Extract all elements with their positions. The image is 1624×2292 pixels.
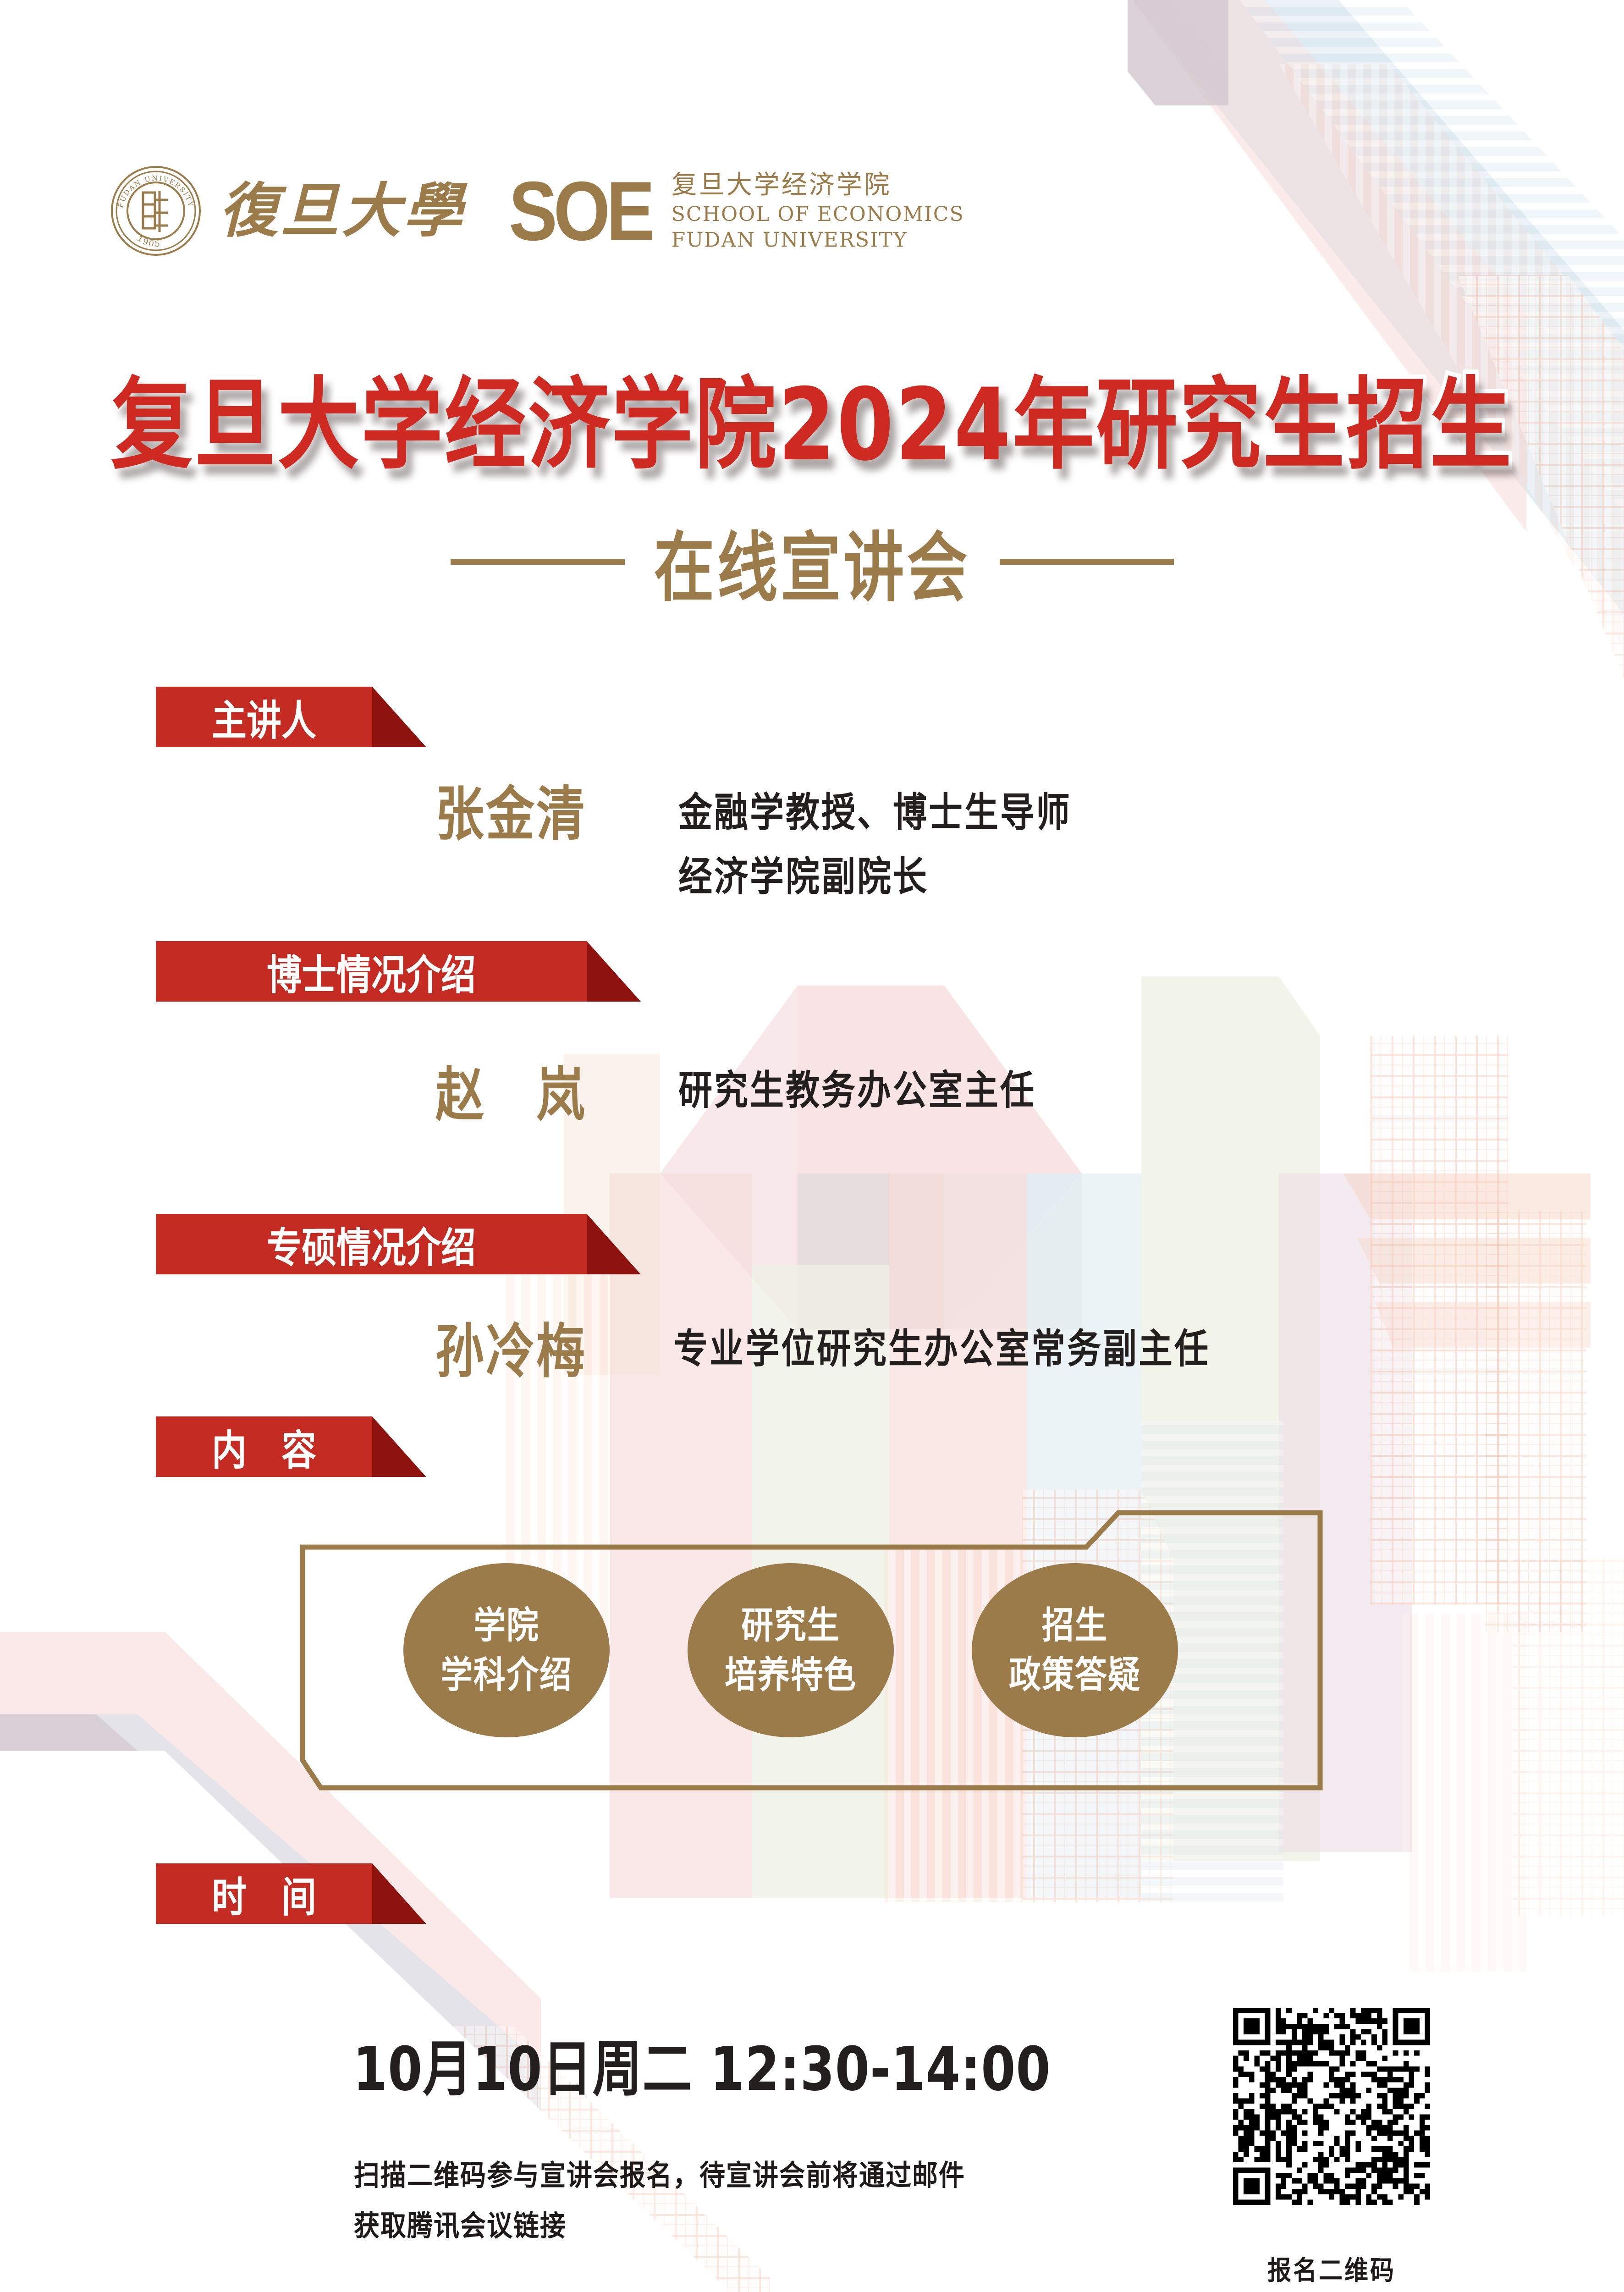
poster-subtitle-row: 在线宣讲会 [0,518,1624,606]
speaker-1-name: 张金清 [435,767,587,852]
content-item-3-line2: 政策答疑 [1009,1647,1141,1704]
registration-note-line2: 获取腾讯会议链接 [354,2203,567,2244]
event-datetime: 10月10日周二 12:30-14:00 [353,2021,1051,2108]
section-tag-master-label: 专硕情况介绍 [267,1214,476,1274]
registration-note-line1: 扫描二维码参与宣讲会报名，待宣讲会前将通过邮件 [354,2152,965,2194]
content-item-2: 研究生 培养特色 [688,1563,894,1737]
section-tag-phd-label: 博士情况介绍 [267,942,476,1001]
tag-fold-icon [372,1416,426,1477]
content-item-1-line2: 学科介绍 [440,1647,573,1704]
qr-code-caption: 报名二维码 [1219,2249,1444,2287]
section-tag-time-label: 时 间 [212,1864,316,1923]
poster-title: 复旦大学经济学院2024年研究生招生 [0,345,1624,489]
speaker-2-role-line1: 研究生教务办公室主任 [678,1058,1036,1116]
soe-logo-mark: SOE [509,169,651,253]
registration-qr-code[interactable] [1233,2008,1430,2205]
qr-code-canvas[interactable] [1233,2008,1430,2205]
fudan-seal-icon: FUDAN UNIVERSITY 1905 [110,165,202,257]
content-item-2-line2: 培养特色 [725,1647,857,1704]
speaker-3-role-line1: 专业学位研究生办公室常务副主任 [674,1317,1210,1374]
content-item-3-line1: 招生 [1042,1597,1108,1654]
section-tag-content: 内 容 [156,1416,426,1477]
subtitle-rule-left [451,559,625,565]
university-name-cn: 復旦大學 [219,182,465,240]
speaker-3-name: 孙冷梅 [435,1304,587,1389]
content-item-2-line1: 研究生 [741,1597,840,1654]
tag-fold-icon [372,687,426,747]
content-item-1-line1: 学院 [473,1597,539,1654]
section-tag-content-label: 内 容 [212,1417,316,1477]
tag-fold-icon [587,1214,641,1274]
tag-fold-icon [372,1863,426,1924]
speaker-2-name: 赵 岚 [435,1047,587,1132]
background-decoration [0,0,1624,2292]
content-item-3: 招生 政策答疑 [972,1563,1178,1737]
soe-name-cn: 复旦大学经济学院 [672,169,964,202]
tag-fold-icon [587,941,641,1002]
content-item-1: 学院 学科介绍 [403,1563,610,1737]
soe-name-en-line2: FUDAN UNIVERSITY [672,227,964,253]
poster-subtitle: 在线宣讲会 [654,507,970,617]
section-tag-phd: 博士情况介绍 [156,941,642,1002]
speaker-1-role-line1: 金融学教授、博士生导师 [678,780,1072,838]
section-tag-master: 专硕情况介绍 [156,1214,642,1274]
brand-header: FUDAN UNIVERSITY 1905 復旦大學 SOE 复旦大学经济学院 … [110,165,964,257]
subtitle-rule-right [1000,559,1174,565]
section-tag-time: 时 间 [156,1863,426,1924]
speaker-1-role-line2: 经济学院副院长 [678,844,929,902]
soe-name-en-line1: SCHOOL OF ECONOMICS [672,202,964,227]
section-tag-speaker-label: 主讲人 [212,687,316,747]
section-tag-speaker: 主讲人 [156,687,426,747]
